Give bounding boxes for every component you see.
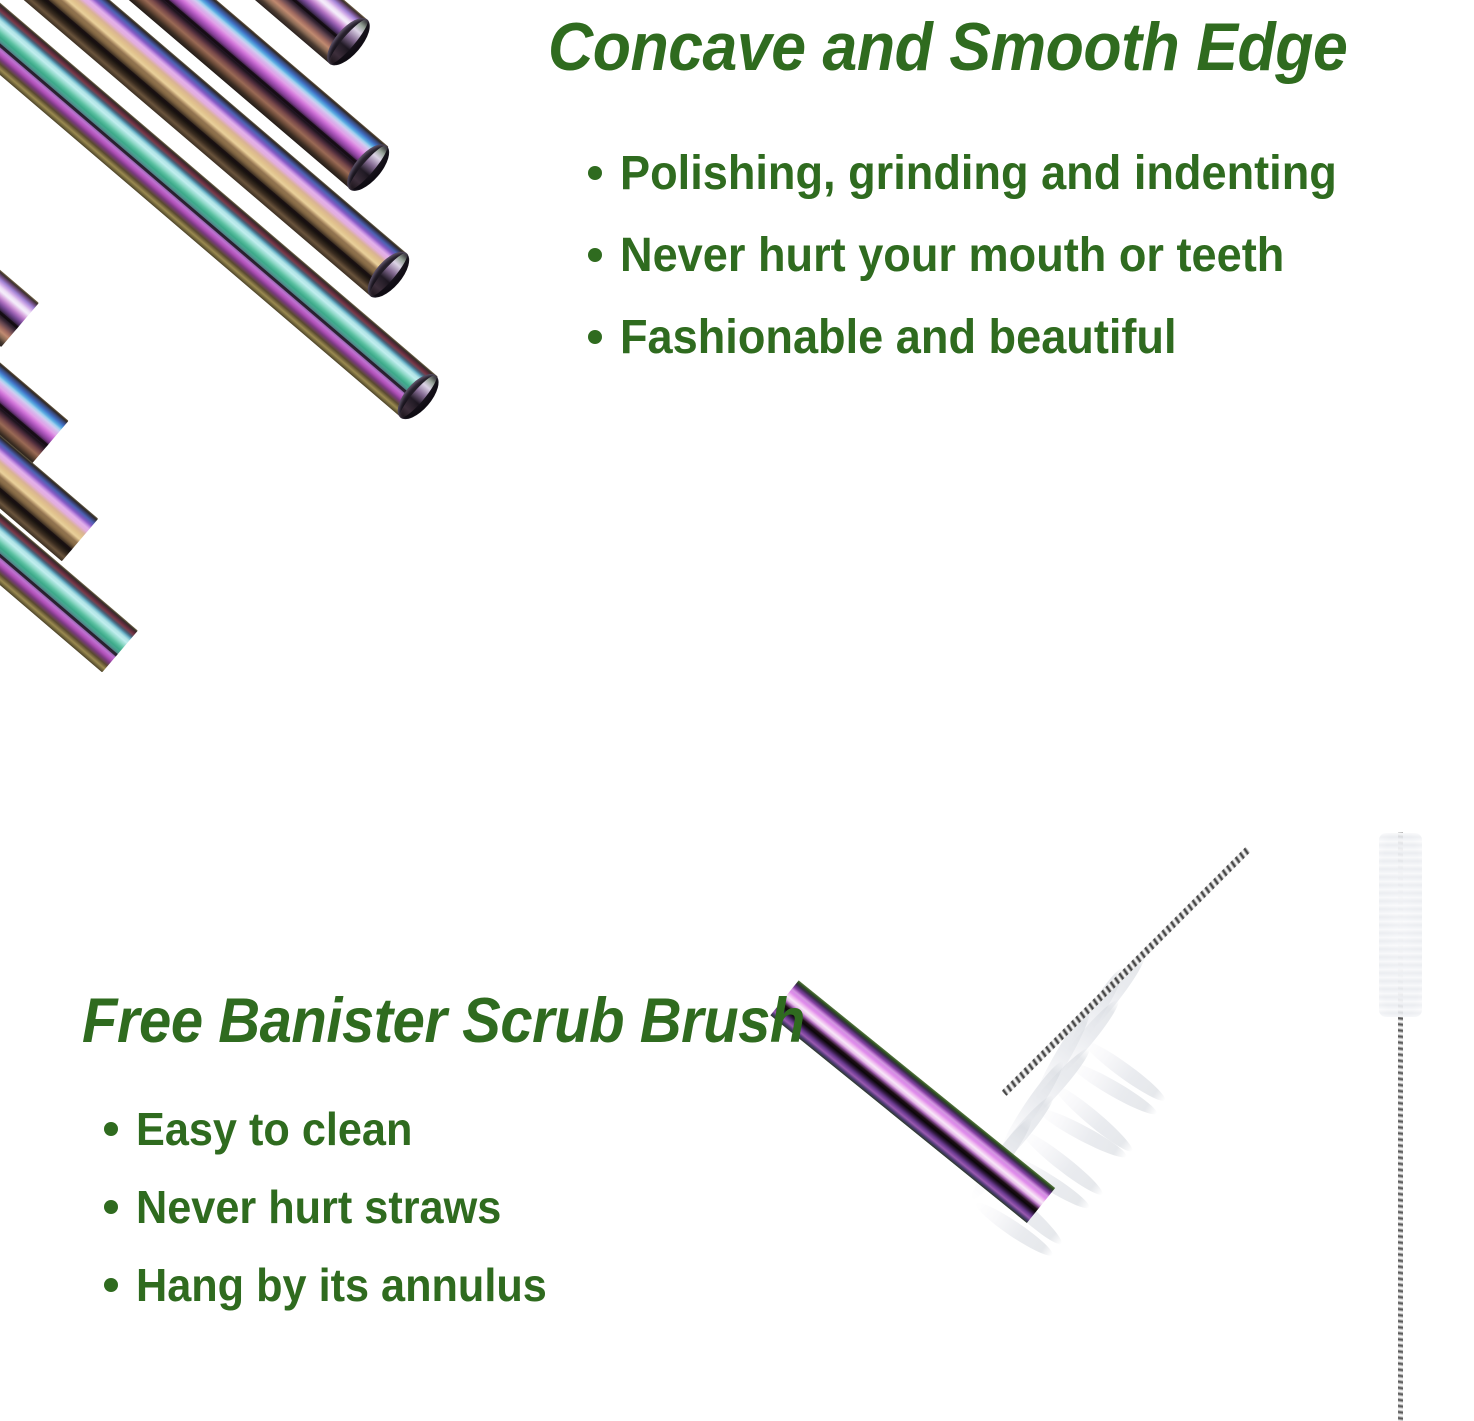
list-item-label: Fashionable and beautiful [620, 310, 1177, 365]
bristle [1012, 1044, 1094, 1133]
bristle [1074, 951, 1150, 1042]
list-item: Never hurt your mouth or teeth [588, 214, 1383, 296]
list-item-label: Never hurt straws [136, 1180, 501, 1234]
feature-list-bottom: Easy to clean Never hurt straws Hang by … [104, 1090, 573, 1324]
bullet-dot-icon [588, 166, 602, 180]
feature-list-top: Polishing, grinding and indenting Never … [588, 132, 1383, 378]
straw-3-lower-body [0, 103, 98, 561]
bristle [1049, 1080, 1137, 1157]
vertical-brush-bristle-texture [1379, 833, 1422, 1017]
bullet-dot-icon [588, 330, 602, 344]
infographic-canvas: Concave and Smooth Edge Polishing, grind… [0, 0, 1474, 1421]
bullet-dot-icon [104, 1122, 118, 1136]
list-item-label: Easy to clean [136, 1102, 412, 1156]
list-item-label: Polishing, grinding and indenting [620, 146, 1337, 201]
page-title-top: Concave and Smooth Edge [548, 8, 1347, 86]
bristle [1066, 1057, 1160, 1120]
list-item-label: Hang by its annulus [136, 1258, 547, 1312]
list-item: Never hurt straws [104, 1168, 573, 1246]
bullet-dot-icon [104, 1200, 118, 1214]
bullet-dot-icon [588, 248, 602, 262]
bristle [1034, 1103, 1129, 1163]
bristle [1080, 1035, 1170, 1106]
list-item: Easy to clean [104, 1090, 573, 1168]
bullet-dot-icon [104, 1278, 118, 1292]
list-item: Fashionable and beautiful [588, 296, 1383, 378]
page-title-bottom: Free Banister Scrub Brush [82, 984, 805, 1058]
list-item: Polishing, grinding and indenting [588, 132, 1383, 214]
diagonal-brush-bristle-cluster [980, 1020, 1210, 1250]
list-item-label: Never hurt your mouth or teeth [620, 228, 1284, 283]
list-item: Hang by its annulus [104, 1246, 573, 1324]
straw-3-lower [0, 103, 98, 561]
bristle [996, 1058, 1069, 1156]
